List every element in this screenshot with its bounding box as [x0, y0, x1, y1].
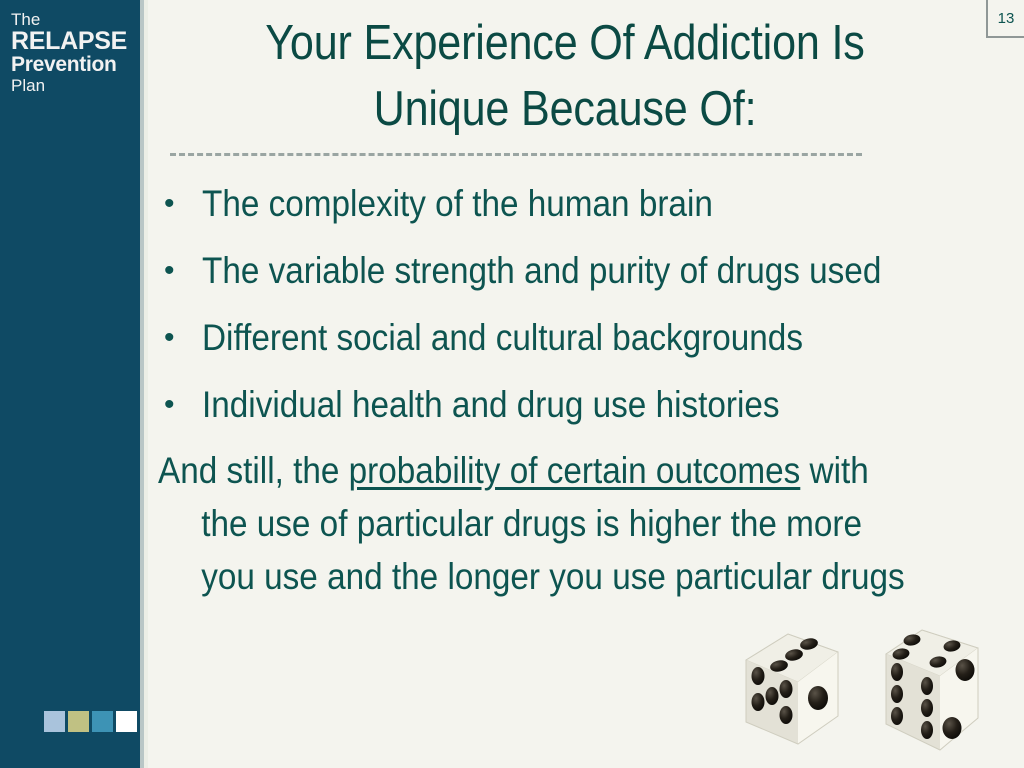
logo-line-relapse: RELAPSE — [11, 29, 141, 54]
sidebar — [0, 0, 140, 768]
list-item: • Individual health and drug use histori… — [158, 379, 1008, 446]
list-item: • The variable strength and purity of dr… — [158, 245, 1008, 312]
page-number-text: 13 — [998, 10, 1015, 27]
closing-text-underlined: probability of certain outcomes — [349, 450, 801, 491]
sidebar-edge-highlight — [144, 0, 148, 768]
title-line-1: Your Experience Of Addiction Is — [209, 10, 922, 76]
color-swatch-strip — [44, 711, 137, 732]
closing-text-after: with — [800, 450, 868, 491]
dice-illustration — [690, 618, 1020, 768]
closing-line-2: the use of particular drugs is higher th… — [158, 497, 950, 550]
die-left — [746, 634, 838, 744]
bullet-dot-icon: • — [158, 178, 202, 230]
logo-line-plan: Plan — [11, 77, 141, 96]
title-divider — [170, 153, 862, 156]
swatch-white — [116, 711, 137, 732]
page-number-badge: 13 — [986, 0, 1024, 38]
page-title: Your Experience Of Addiction Is Unique B… — [209, 10, 922, 142]
brand-logo: The RELAPSE Prevention Plan — [11, 11, 141, 96]
closing-text-before: And still, the — [158, 450, 349, 491]
closing-line-1: And still, the probability of certain ou… — [158, 444, 950, 497]
die-right — [886, 630, 978, 750]
bullet-dot-icon: • — [158, 379, 202, 431]
list-item: • The complexity of the human brain — [158, 178, 1008, 245]
bullet-dot-icon: • — [158, 245, 202, 297]
closing-line-3: you use and the longer you use particula… — [158, 550, 950, 603]
bullet-text: The complexity of the human brain — [202, 178, 713, 230]
closing-paragraph: And still, the probability of certain ou… — [158, 444, 950, 603]
logo-line-prevention: Prevention — [11, 54, 141, 76]
bullet-text: The variable strength and purity of drug… — [202, 245, 881, 297]
bullet-dot-icon: • — [158, 312, 202, 364]
bullet-list: • The complexity of the human brain • Th… — [158, 178, 1008, 446]
bullet-text: Individual health and drug use histories — [202, 379, 780, 431]
logo-line-the: The — [11, 11, 141, 28]
swatch-light-blue — [44, 711, 65, 732]
list-item: • Different social and cultural backgrou… — [158, 312, 1008, 379]
title-line-2: Unique Because Of: — [209, 76, 922, 142]
slide-canvas: The RELAPSE Prevention Plan 13 Your Expe… — [0, 0, 1024, 768]
swatch-blue — [92, 711, 113, 732]
bullet-text: Different social and cultural background… — [202, 312, 803, 364]
swatch-khaki — [68, 711, 89, 732]
